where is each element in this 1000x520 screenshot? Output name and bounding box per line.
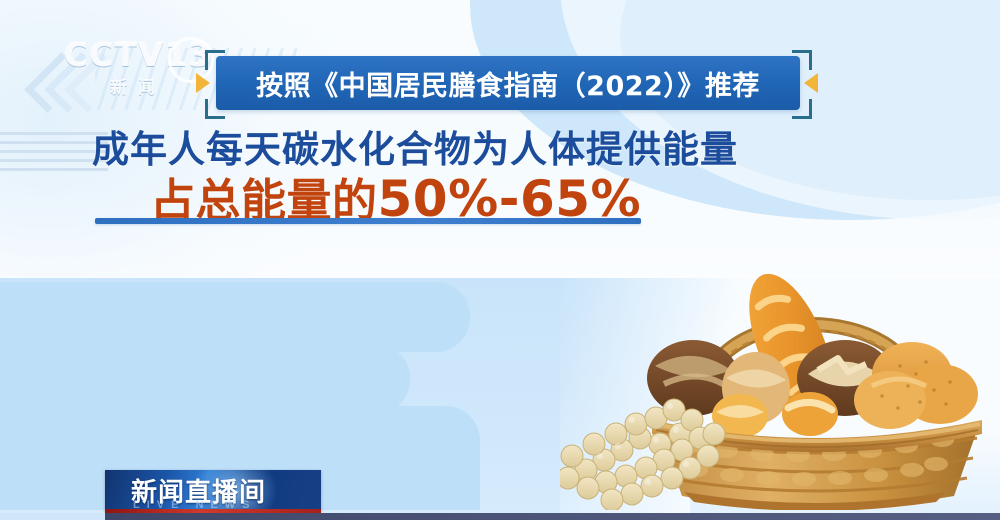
- bread-basket-illustration: [560, 238, 1000, 510]
- headline-line-1: 成年人每天碳水化合物为人体提供能量: [92, 128, 652, 172]
- station-bug: 新闻直播间 LIVE NEWS: [105, 470, 321, 512]
- bottom-bar-left-gap: [0, 513, 105, 520]
- main-headline: 成年人每天碳水化合物为人体提供能量 占总能量的50%-65%: [92, 128, 652, 226]
- headline-banner: 按照《中国居民膳食指南（2022）》推荐: [196, 50, 818, 116]
- banner-title-text: 按照《中国居民膳食指南（2022）》推荐: [256, 64, 760, 103]
- banner-box: 按照《中国居民膳食指南（2022）》推荐: [216, 56, 800, 110]
- triangle-right-icon: [196, 73, 210, 93]
- bottom-bar: [105, 513, 1000, 520]
- broadcast-screen: CCTV13 新闻 按照《中国居民膳食指南（2022）》推荐 成年人每天碳水化合…: [0, 0, 1000, 520]
- cctv-text: CCTV: [64, 35, 165, 74]
- cctv13-watermark-logo: CCTV13 新闻: [58, 38, 218, 108]
- headline-underline: [95, 218, 641, 224]
- triangle-left-icon: [804, 73, 818, 93]
